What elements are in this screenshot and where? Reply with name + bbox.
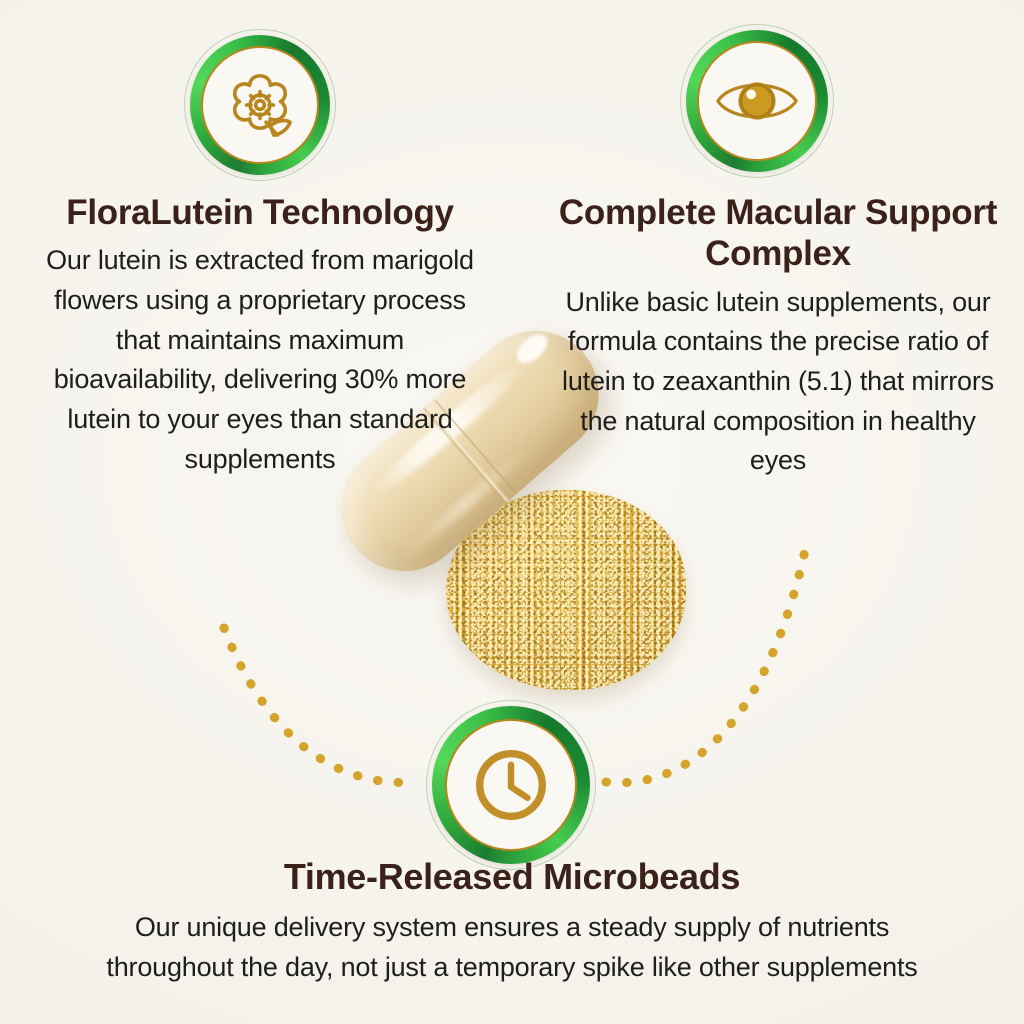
- marigold-flower-icon: [190, 35, 330, 175]
- badge-time-released: [432, 706, 590, 864]
- feature-right: Complete Macular Support Complex Unlike …: [552, 192, 1004, 481]
- feature-right-body: Unlike basic lutein supplements, our for…: [552, 283, 1004, 481]
- badge-macular-support: [686, 30, 828, 172]
- badge-floralutein: [190, 35, 330, 175]
- feature-left-heading: FloraLutein Technology: [34, 192, 486, 233]
- feature-left-body: Our lutein is extracted from marigold fl…: [34, 241, 486, 479]
- feature-bottom-heading: Time-Released Microbeads: [96, 856, 928, 898]
- feature-left: FloraLutein Technology Our lutein is ext…: [34, 192, 486, 479]
- clock-icon: [432, 706, 590, 864]
- infographic-canvas: FloraLutein Technology Our lutein is ext…: [0, 0, 1024, 1024]
- eye-icon: [686, 30, 828, 172]
- feature-bottom: Time-Released Microbeads Our unique deli…: [96, 856, 928, 988]
- feature-right-heading: Complete Macular Support Complex: [552, 192, 1004, 275]
- feature-bottom-body: Our unique delivery system ensures a ste…: [96, 908, 928, 987]
